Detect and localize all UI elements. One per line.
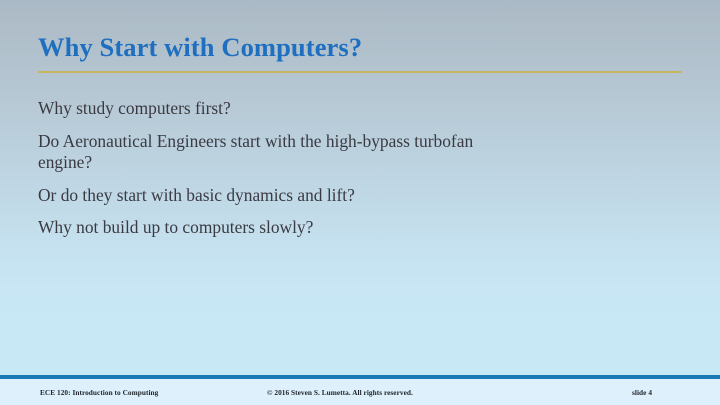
slide-title: Why Start with Computers? <box>38 30 688 64</box>
presentation-slide: Why Start with Computers? Why study comp… <box>0 0 720 405</box>
slide-body: Why study computers first? Do Aeronautic… <box>38 98 598 239</box>
body-line-3: Or do they start with basic dynamics and… <box>38 185 508 207</box>
body-line-4: Why not build up to computers slowly? <box>38 217 508 239</box>
body-line-1: Why study computers first? <box>38 98 468 120</box>
footer-copyright-label: © 2016 Steven S. Lumetta. All rights res… <box>267 388 413 397</box>
footer-course-label: ECE 120: Introduction to Computing <box>40 388 158 397</box>
footer-slide-number: slide 4 <box>632 388 652 397</box>
body-line-2: Do Aeronautical Engineers start with the… <box>38 131 508 174</box>
title-underline-rule <box>38 71 682 73</box>
